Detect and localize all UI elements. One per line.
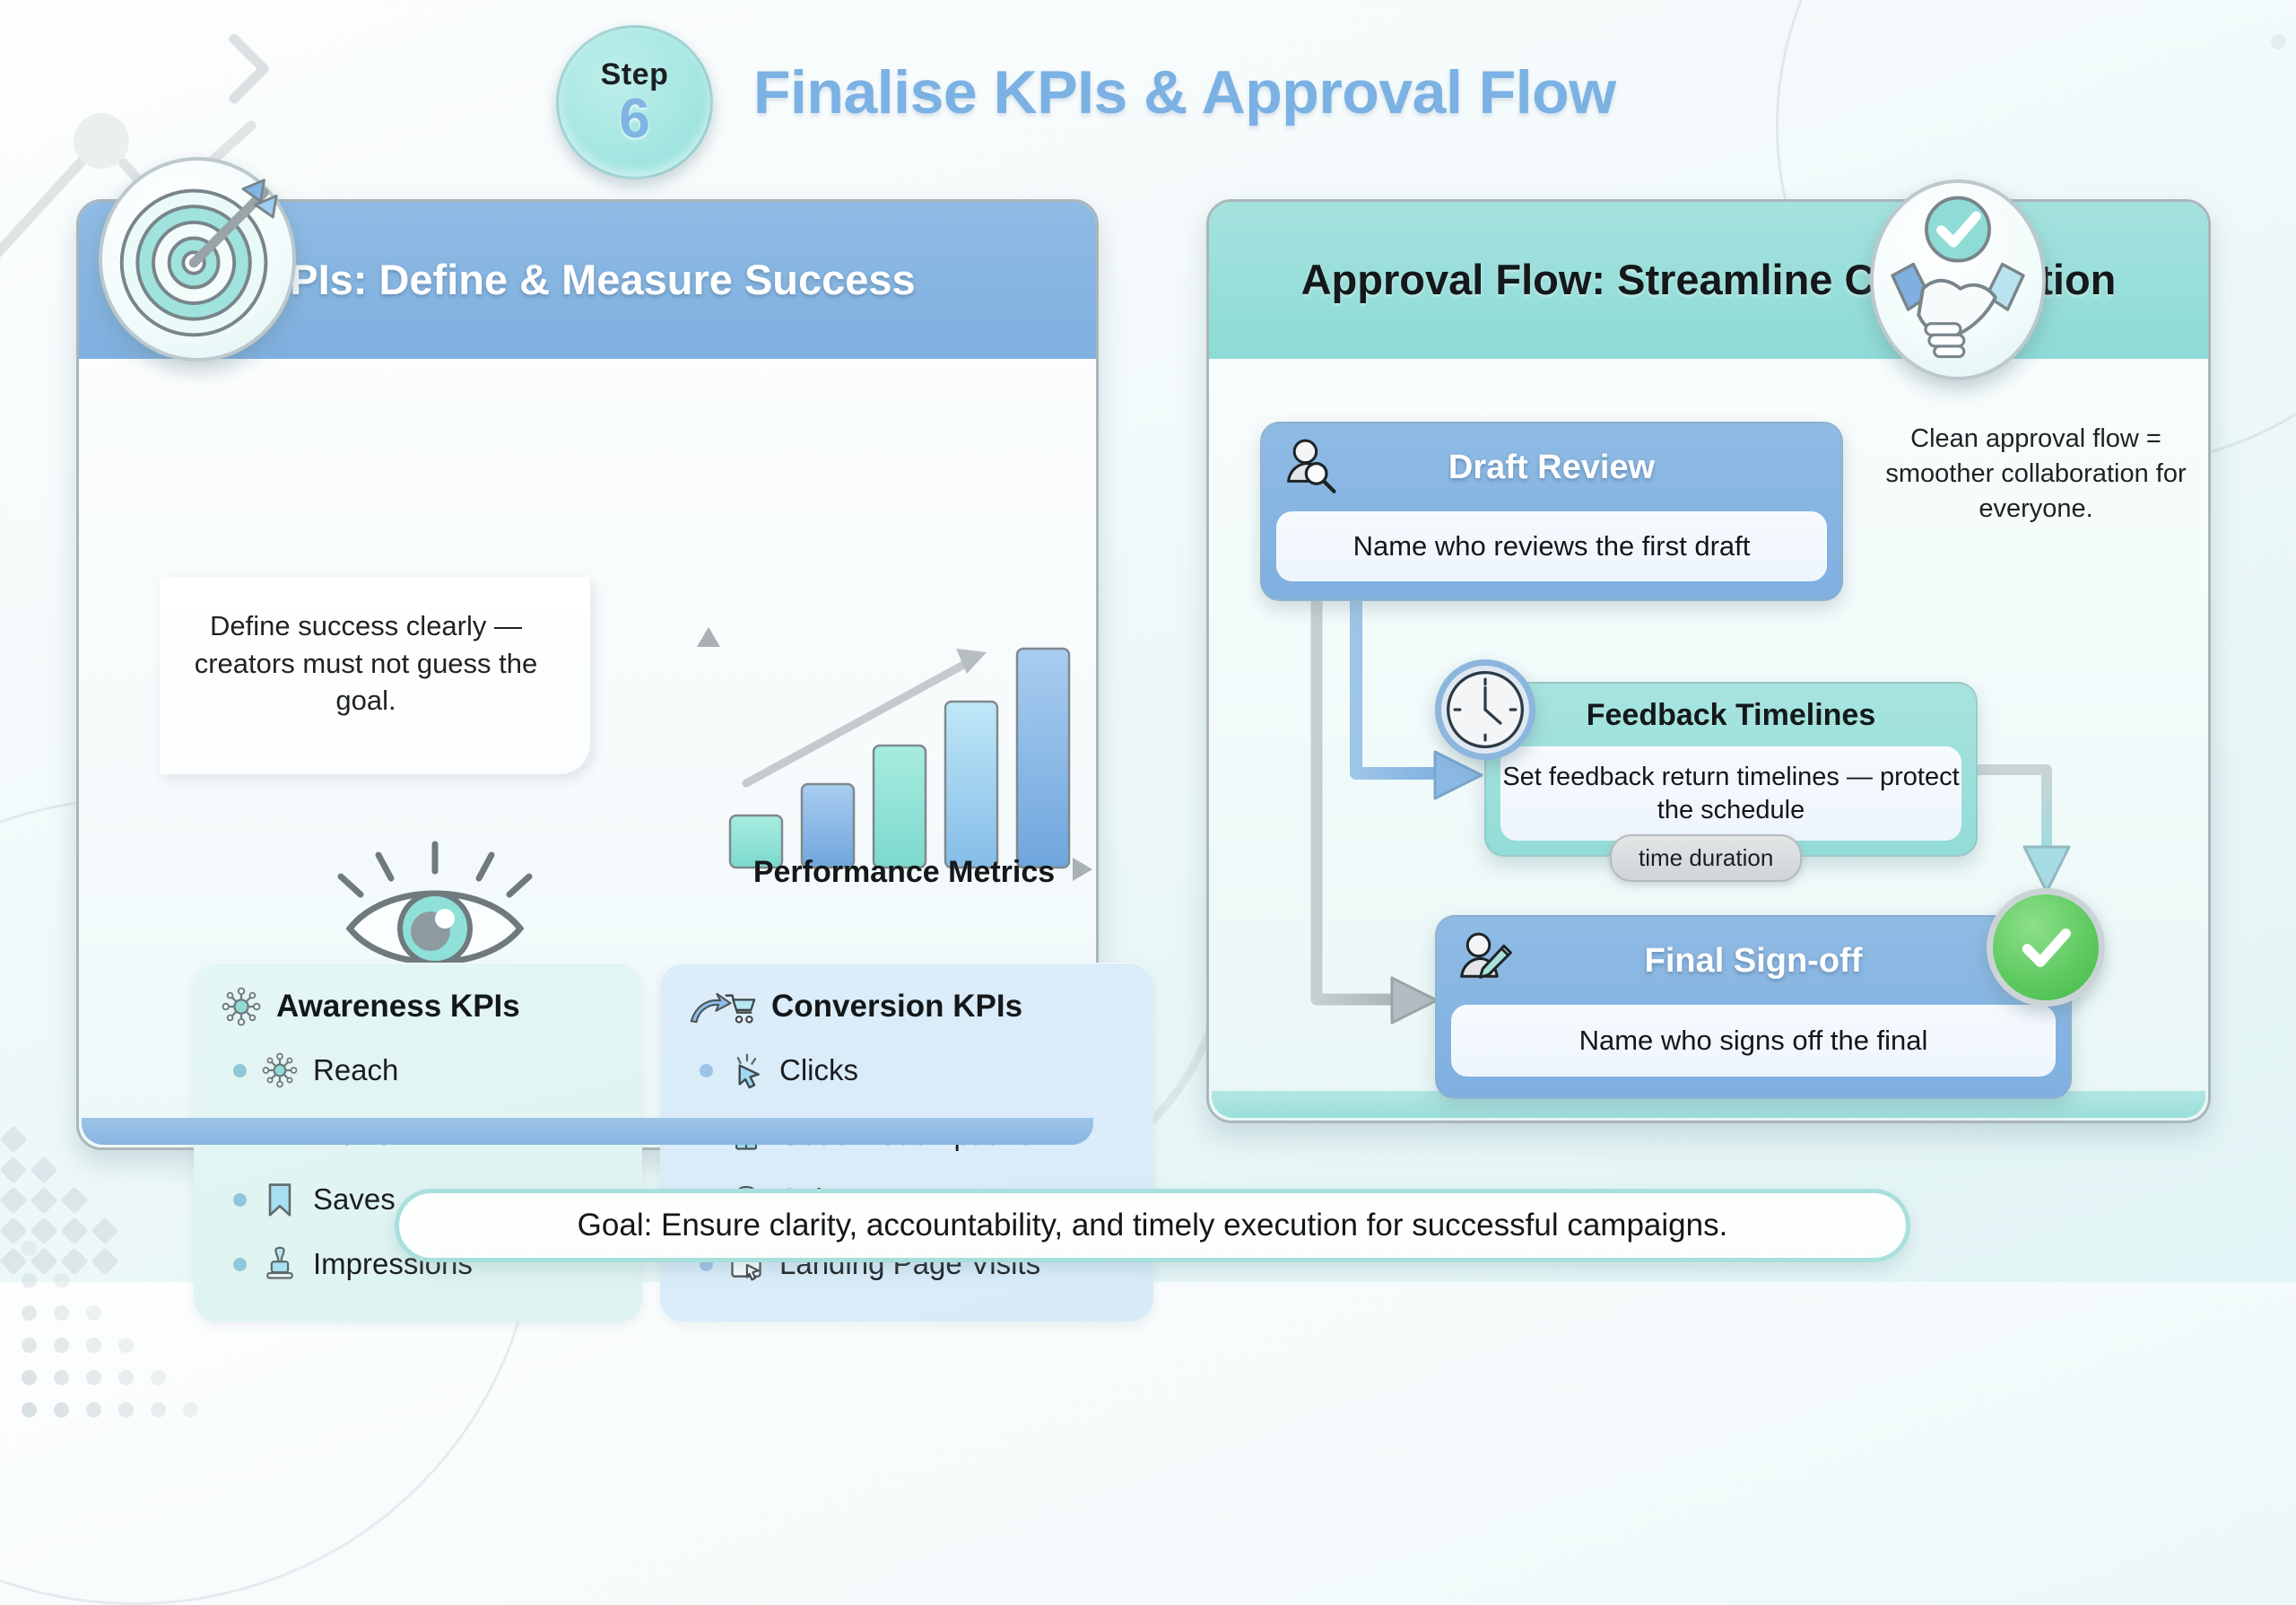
- feedback-timelines-title: Feedback Timelines: [1587, 698, 1876, 733]
- draft-review-header: Draft Review: [1262, 423, 1841, 511]
- approval-panel-header: Approval Flow: Streamline Collaboration: [1209, 202, 2208, 359]
- feedback-timelines-body: Set feedback return timelines — protect …: [1500, 746, 1961, 841]
- cursor-click-icon: [726, 1050, 767, 1091]
- step-badge: Step 6: [556, 25, 713, 179]
- kpi-item-label: Saves: [313, 1182, 396, 1217]
- awareness-kpi-title-row: Awareness KPIs: [221, 986, 615, 1027]
- person-pencil-icon: [1457, 929, 1516, 993]
- conversion-kpi-title: Conversion KPIs: [771, 989, 1022, 1025]
- clock-icon: [1435, 659, 1535, 760]
- approval-note-text: Clean approval flow = smoother collabora…: [1883, 422, 2188, 527]
- chart-caption: Performance Metrics: [671, 855, 1137, 890]
- stamp-icon: [259, 1243, 300, 1285]
- step-label: Step: [601, 59, 669, 90]
- final-signoff-header: Final Sign-off: [1437, 917, 2070, 1005]
- list-item: Reach: [221, 1038, 615, 1103]
- kpi-note-text: Define success clearly — creators must n…: [169, 607, 563, 720]
- bullet-dot: [233, 1193, 247, 1207]
- feedback-timelines-header: Feedback Timelines: [1486, 684, 1976, 746]
- draft-review-title: Draft Review: [1448, 449, 1655, 487]
- list-item: Clicks: [687, 1038, 1126, 1103]
- kpi-item-label: Clicks: [779, 1053, 858, 1087]
- page-title: Finalise KPIs & Approval Flow: [753, 57, 1616, 127]
- awareness-kpi-title: Awareness KPIs: [276, 989, 520, 1025]
- conversion-kpi-title-row: Conversion KPIs: [687, 986, 1126, 1027]
- shopping-cart-arrow-icon: [687, 986, 757, 1027]
- person-search-icon: [1282, 436, 1341, 500]
- kpi-item-label: Reach: [313, 1053, 398, 1087]
- final-signoff-body: Name who signs off the final: [1451, 1005, 2056, 1077]
- time-duration-badge: time duration: [1610, 834, 1802, 882]
- final-signoff-title: Final Sign-off: [1645, 942, 1863, 981]
- handshake-check-icon: [1870, 179, 2046, 380]
- flow-card-draft-review[interactable]: Draft Review Name who reviews the first …: [1260, 422, 1843, 601]
- step-number: 6: [619, 93, 649, 146]
- goal-banner-text: Goal: Ensure clarity, accountability, an…: [578, 1208, 1728, 1243]
- network-node-icon: [221, 986, 262, 1027]
- kpi-panel-title: KPIs: Define & Measure Success: [259, 257, 915, 304]
- bullet-dot: [233, 1258, 247, 1271]
- goal-banner: Goal: Ensure clarity, accountability, an…: [395, 1189, 1910, 1262]
- kpi-panel-bottom-accent: [82, 1118, 1093, 1145]
- eye-icon: [323, 830, 547, 973]
- page-header: Step 6 Finalise KPIs & Approval Flow: [0, 13, 2296, 174]
- flow-card-feedback-timelines[interactable]: Feedback Timelines Set feedback return t…: [1484, 682, 1978, 857]
- bullet-dot: [233, 1064, 247, 1077]
- target-arrow-icon: [99, 157, 296, 362]
- check-circle-icon: [1987, 888, 2105, 1007]
- network-node-icon: [259, 1050, 300, 1091]
- bullet-dot: [700, 1064, 713, 1077]
- flow-card-final-signoff[interactable]: Final Sign-off Name who signs off the fi…: [1435, 915, 2072, 1099]
- draft-review-body: Name who reviews the first draft: [1276, 511, 1827, 581]
- bookmark-icon: [259, 1179, 300, 1220]
